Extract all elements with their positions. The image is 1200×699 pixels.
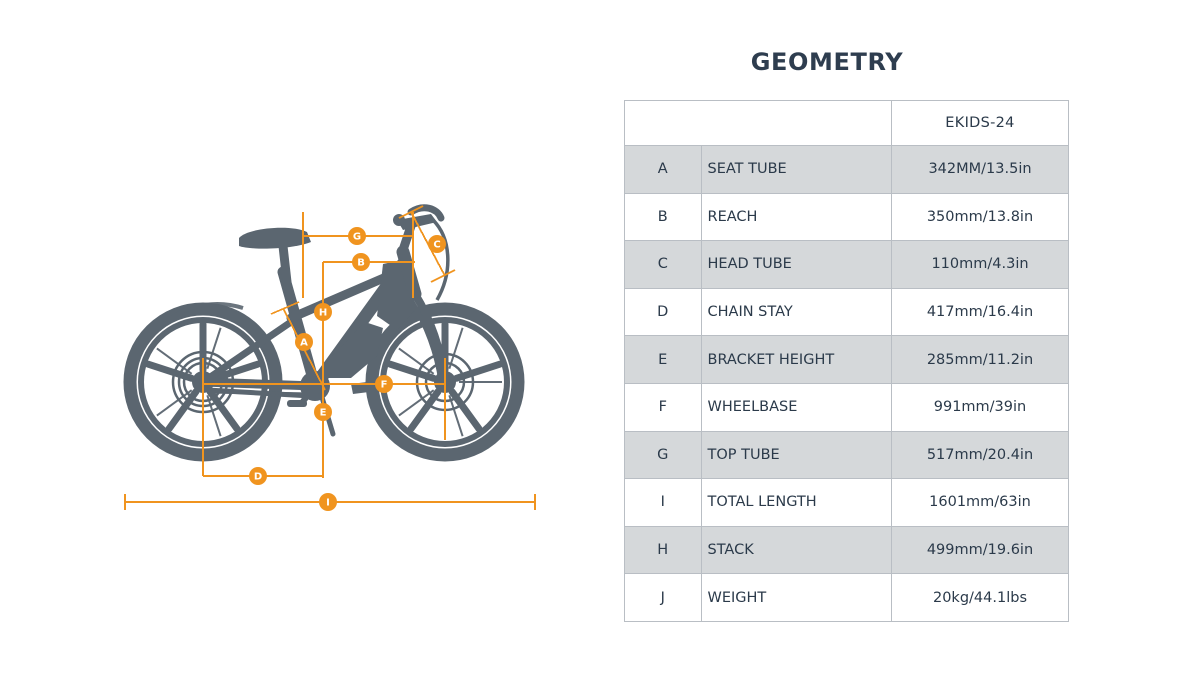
marker-d-label: D: [254, 472, 262, 483]
marker-h: H: [314, 303, 332, 321]
bike-geometry-diagram: G B C H A: [115, 190, 585, 535]
table-row: CHEAD TUBE110mm/4.3in: [625, 241, 1069, 289]
row-value-cell: 517mm/20.4in: [892, 431, 1069, 479]
row-name-cell: BRACKET HEIGHT: [701, 336, 892, 384]
marker-i: I: [319, 493, 337, 511]
marker-a: A: [295, 333, 313, 351]
marker-d: D: [249, 467, 267, 485]
row-name-cell: CHAIN STAY: [701, 288, 892, 336]
marker-c: C: [428, 235, 446, 253]
marker-b-label: B: [357, 258, 365, 269]
marker-e-label: E: [320, 408, 327, 419]
marker-g: G: [348, 227, 366, 245]
marker-a-label: A: [300, 338, 308, 349]
page-root: G B C H A: [0, 0, 1200, 699]
marker-g-label: G: [353, 232, 361, 243]
row-key-cell: G: [625, 431, 702, 479]
row-value-cell: 499mm/19.6in: [892, 526, 1069, 574]
row-key-cell: J: [625, 574, 702, 622]
row-value-cell: 991mm/39in: [892, 383, 1069, 431]
row-key-cell: C: [625, 241, 702, 289]
seat-tube: [283, 272, 315, 386]
marker-f-label: F: [381, 380, 388, 391]
geometry-table: EKIDS-24 ASEAT TUBE342MM/13.5inBREACH350…: [624, 100, 1069, 622]
brake-cable: [433, 220, 448, 300]
row-value-cell: 350mm/13.8in: [892, 193, 1069, 241]
table-row: JWEIGHT20kg/44.1lbs: [625, 574, 1069, 622]
row-name-cell: SEAT TUBE: [701, 146, 892, 194]
row-name-cell: TOP TUBE: [701, 431, 892, 479]
row-key-cell: I: [625, 479, 702, 527]
row-name-cell: WHEELBASE: [701, 383, 892, 431]
table-row: GTOP TUBE517mm/20.4in: [625, 431, 1069, 479]
row-value-cell: 417mm/16.4in: [892, 288, 1069, 336]
row-key-cell: F: [625, 383, 702, 431]
row-name-cell: REACH: [701, 193, 892, 241]
table-row: BREACH350mm/13.8in: [625, 193, 1069, 241]
header-model-cell: EKIDS-24: [892, 101, 1069, 146]
marker-i-label: I: [326, 498, 330, 509]
marker-c-label: C: [433, 240, 440, 251]
row-key-cell: A: [625, 146, 702, 194]
row-value-cell: 20kg/44.1lbs: [892, 574, 1069, 622]
row-key-cell: B: [625, 193, 702, 241]
table-header-row: EKIDS-24: [625, 101, 1069, 146]
marker-f: F: [375, 375, 393, 393]
table-row: ASEAT TUBE342MM/13.5in: [625, 146, 1069, 194]
header-blank-key: [625, 101, 702, 146]
table-row: DCHAIN STAY417mm/16.4in: [625, 288, 1069, 336]
row-value-cell: 1601mm/63in: [892, 479, 1069, 527]
marker-b: B: [352, 253, 370, 271]
page-title: GEOMETRY: [624, 48, 1030, 76]
marker-h-label: H: [319, 308, 327, 319]
table-row: HSTACK499mm/19.6in: [625, 526, 1069, 574]
row-value-cell: 110mm/4.3in: [892, 241, 1069, 289]
row-key-cell: E: [625, 336, 702, 384]
table-row: FWHEELBASE991mm/39in: [625, 383, 1069, 431]
row-name-cell: HEAD TUBE: [701, 241, 892, 289]
table-row: ITOTAL LENGTH1601mm/63in: [625, 479, 1069, 527]
row-key-cell: D: [625, 288, 702, 336]
geometry-panel: GEOMETRY EKIDS-24 ASEAT TUBE342MM/13.5in…: [624, 48, 1030, 622]
marker-e: E: [314, 403, 332, 421]
row-key-cell: H: [625, 526, 702, 574]
header-blank-name: [701, 101, 892, 146]
row-name-cell: WEIGHT: [701, 574, 892, 622]
row-value-cell: 285mm/11.2in: [892, 336, 1069, 384]
row-name-cell: STACK: [701, 526, 892, 574]
table-row: EBRACKET HEIGHT285mm/11.2in: [625, 336, 1069, 384]
saddle: [239, 228, 311, 282]
row-name-cell: TOTAL LENGTH: [701, 479, 892, 527]
row-value-cell: 342MM/13.5in: [892, 146, 1069, 194]
